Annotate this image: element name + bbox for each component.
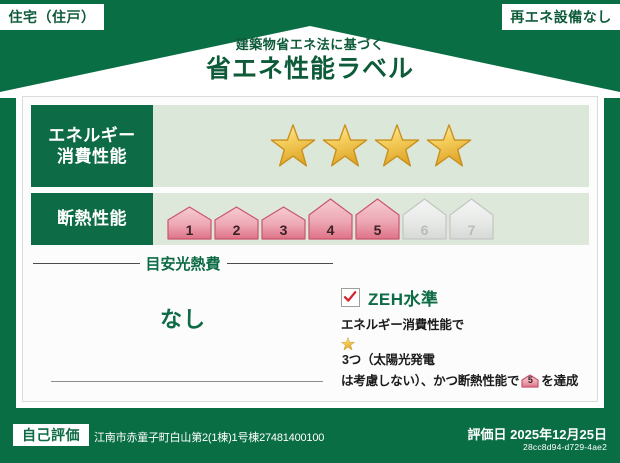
property-address: 江南市赤童子町白山第2(1棟)1号棟27481400100 xyxy=(94,429,324,445)
star-icon xyxy=(426,123,472,169)
insulation-level-4: 4 xyxy=(308,198,353,240)
insulation-level-3: 3 xyxy=(261,206,306,240)
footer: 自己評価 江南市赤童子町白山第2(1棟)1号棟27481400100 評価日 2… xyxy=(0,414,620,463)
badge-building-type: 住宅（住戸） xyxy=(0,4,104,30)
evaluation-date: 評価日 2025年12月25日 xyxy=(468,424,607,443)
star-icon xyxy=(341,337,593,351)
zeh-title: ZEH水準 xyxy=(368,285,439,310)
insulation-level-6: 6 xyxy=(402,198,447,240)
star-icon xyxy=(270,123,316,169)
energy-performance-row: エネルギー 消費性能 xyxy=(31,105,589,187)
insulation-level-number: 5 xyxy=(521,374,539,388)
self-evaluation-badge-label: 自己評価 xyxy=(22,425,80,445)
insulation-performance-value: 1234567 xyxy=(153,193,589,245)
header-subtitle: 建築物省エネ法に基づく xyxy=(0,38,620,52)
insulation-level-1: 1 xyxy=(167,206,212,240)
zeh-desc-part4: を達成 xyxy=(541,374,578,388)
evaluation-date-value: 2025年12月25日 xyxy=(510,427,607,442)
badge-renewable-energy: 再エネ設備なし xyxy=(502,4,620,30)
zeh-title-row: ZEH水準 xyxy=(341,285,593,310)
badge-renewable-energy-label: 再エネ設備なし xyxy=(510,7,612,27)
insulation-performance-row: 断熱性能 1234567 xyxy=(31,193,589,245)
label-body-panel: エネルギー 消費性能 断熱性能 1234567 xyxy=(16,90,604,408)
energy-performance-label: 住宅（住戸） 再エネ設備なし 建築物省エネ法に基づく 省エネ性能ラベル エネルギ… xyxy=(0,0,620,463)
insulation-level-number: 7 xyxy=(449,222,494,238)
insulation-performance-label: 断熱性能 xyxy=(31,193,153,245)
zeh-section: ZEH水準 エネルギー消費性能で3つ（太陽光発電は考慮しない）、かつ断熱性能で5… xyxy=(341,285,593,390)
zeh-desc-part1: エネルギー消費性能で xyxy=(341,318,464,332)
insulation-level-5: 5 xyxy=(355,198,400,240)
insulation-level-scale: 1234567 xyxy=(153,198,589,240)
label-body-inner: エネルギー 消費性能 断熱性能 1234567 xyxy=(22,96,598,402)
zeh-desc-part3: は考慮しない）、かつ断熱性能で xyxy=(341,374,519,388)
utility-cost-heading-text: 目安光熱費 xyxy=(146,253,221,274)
insulation-level-number: 3 xyxy=(261,222,306,238)
insulation-level-number: 4 xyxy=(308,222,353,238)
energy-performance-value xyxy=(153,105,589,187)
energy-performance-label: エネルギー 消費性能 xyxy=(31,105,153,187)
insulation-level-7: 7 xyxy=(449,198,494,240)
utility-cost-value: なし xyxy=(33,302,333,334)
header-title: 省エネ性能ラベル xyxy=(0,56,620,84)
zeh-description: エネルギー消費性能で3つ（太陽光発電は考慮しない）、かつ断熱性能で5を達成 xyxy=(341,316,593,390)
insulation-level-number: 5 xyxy=(355,222,400,238)
heading-rule-right xyxy=(227,263,334,264)
insulation-level-number: 1 xyxy=(167,222,212,238)
insulation-level-2: 2 xyxy=(214,206,259,240)
evaluation-date-label: 評価日 xyxy=(468,427,507,442)
insulation-level-number: 6 xyxy=(402,222,447,238)
evaluation-hash: 28cc8d94-d729-4ae2 xyxy=(523,442,607,452)
insulation-level-number: 2 xyxy=(214,222,259,238)
utility-cost-heading: 目安光熱費 xyxy=(33,253,333,274)
self-evaluation-badge: 自己評価 xyxy=(13,424,89,446)
zeh-desc-part2: 3つ（太陽光発電 xyxy=(342,353,435,367)
badge-building-type-label: 住宅（住戸） xyxy=(9,7,96,27)
utility-cost-underline xyxy=(51,381,323,382)
zeh-checkbox xyxy=(341,288,360,307)
header-titles: 建築物省エネ法に基づく 省エネ性能ラベル xyxy=(0,38,620,84)
check-icon xyxy=(343,290,357,304)
energy-performance-label-line1: エネルギー xyxy=(48,125,136,146)
utility-cost-section: 目安光熱費 なし xyxy=(33,253,333,334)
insulation-performance-label-text: 断熱性能 xyxy=(57,208,127,229)
insulation-level-badge: 5 xyxy=(521,374,539,388)
star-icon xyxy=(322,123,368,169)
energy-performance-label-line2: 消費性能 xyxy=(57,146,127,167)
star-rating xyxy=(270,123,472,169)
heading-rule-left xyxy=(33,263,140,264)
star-icon xyxy=(374,123,420,169)
